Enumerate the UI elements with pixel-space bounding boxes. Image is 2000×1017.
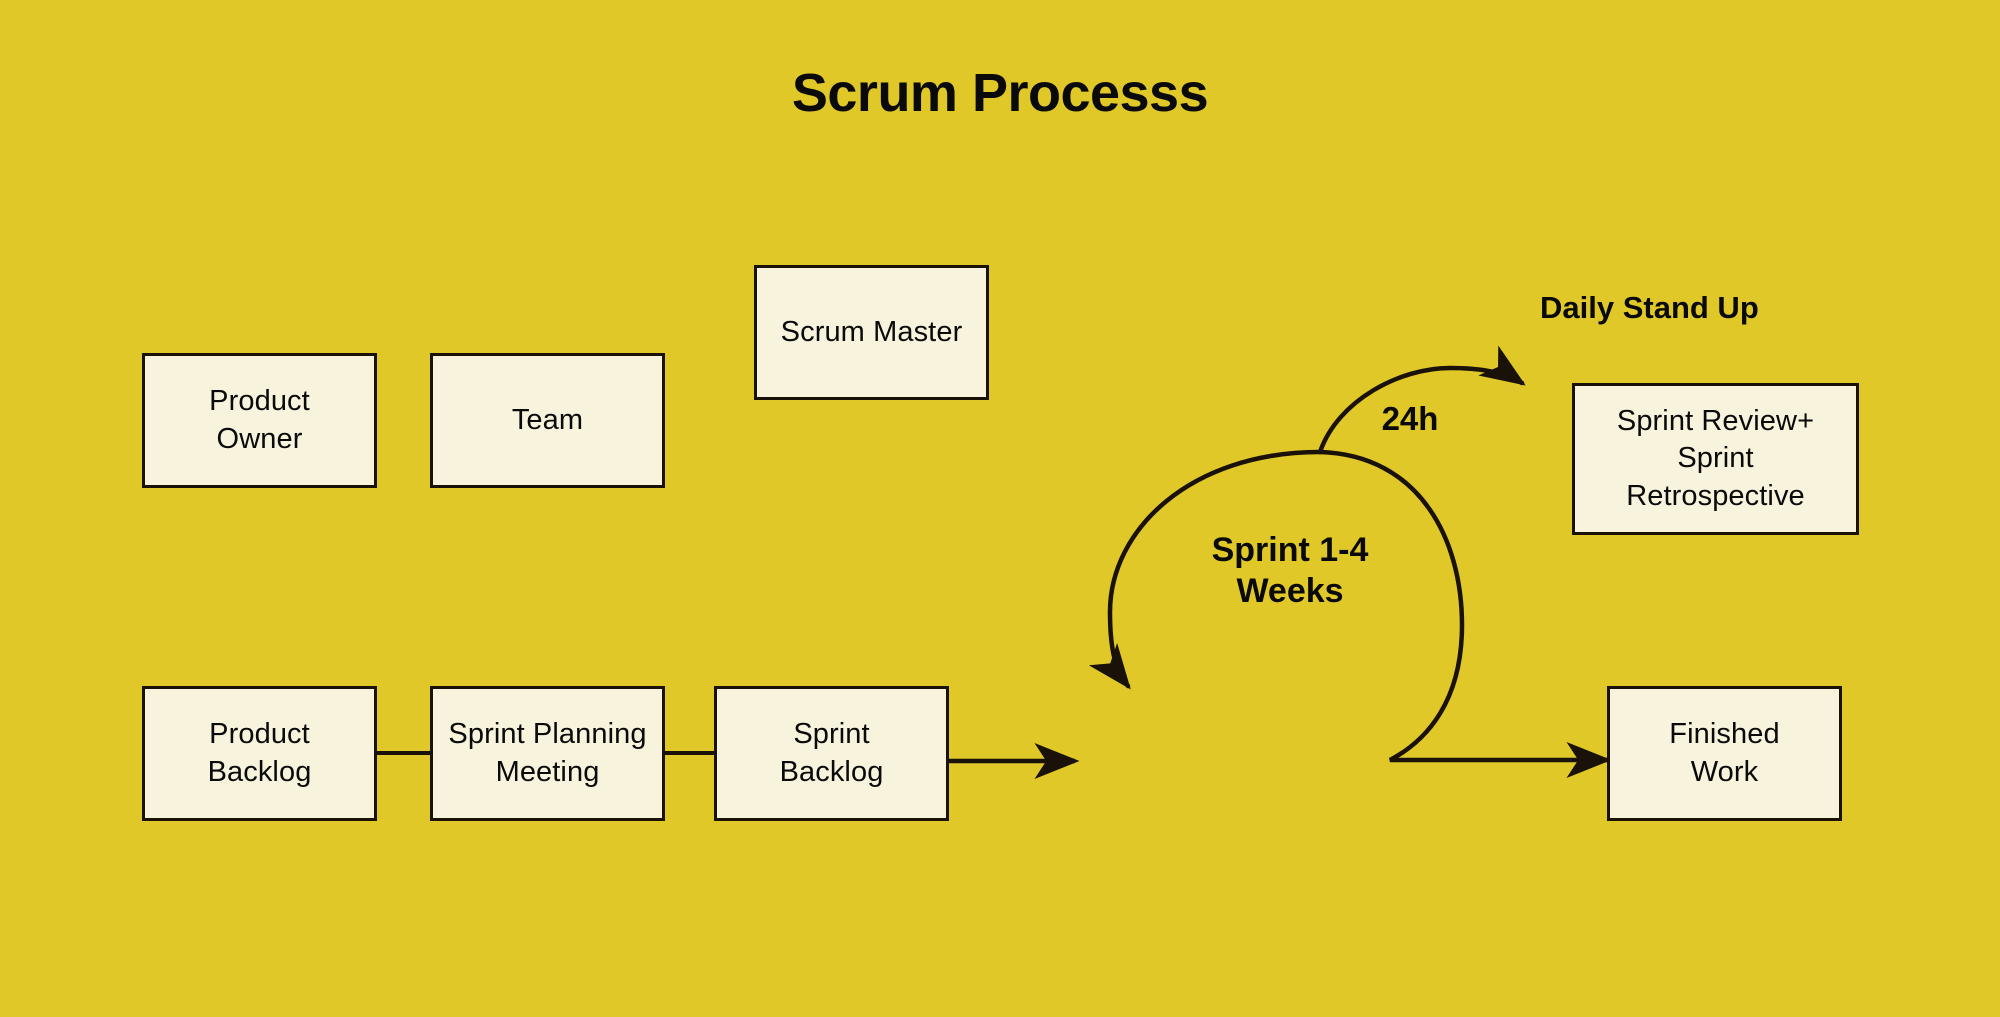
node-team[interactable]: Team	[430, 353, 665, 488]
node-product-backlog[interactable]: Product Backlog	[142, 686, 377, 821]
node-finished-work[interactable]: Finished Work	[1607, 686, 1842, 821]
node-product-owner[interactable]: Product Owner	[142, 353, 377, 488]
diagram-canvas: Scrum Processs Product Owner Team Scrum …	[0, 0, 2000, 1017]
label-sprint-duration: Sprint 1-4 Weeks	[1140, 530, 1440, 613]
label-daily-stand-up: Daily Stand Up	[1540, 290, 1860, 326]
node-scrum-master[interactable]: Scrum Master	[754, 265, 989, 400]
node-sprint-planning-meeting[interactable]: Sprint Planning Meeting	[430, 686, 665, 821]
node-sprint-backlog[interactable]: Sprint Backlog	[714, 686, 949, 821]
node-sprint-review-retrospective[interactable]: Sprint Review+ Sprint Retrospective	[1572, 383, 1859, 535]
label-daily-cycle-duration: 24h	[1330, 400, 1490, 438]
page-title: Scrum Processs	[0, 62, 2000, 124]
